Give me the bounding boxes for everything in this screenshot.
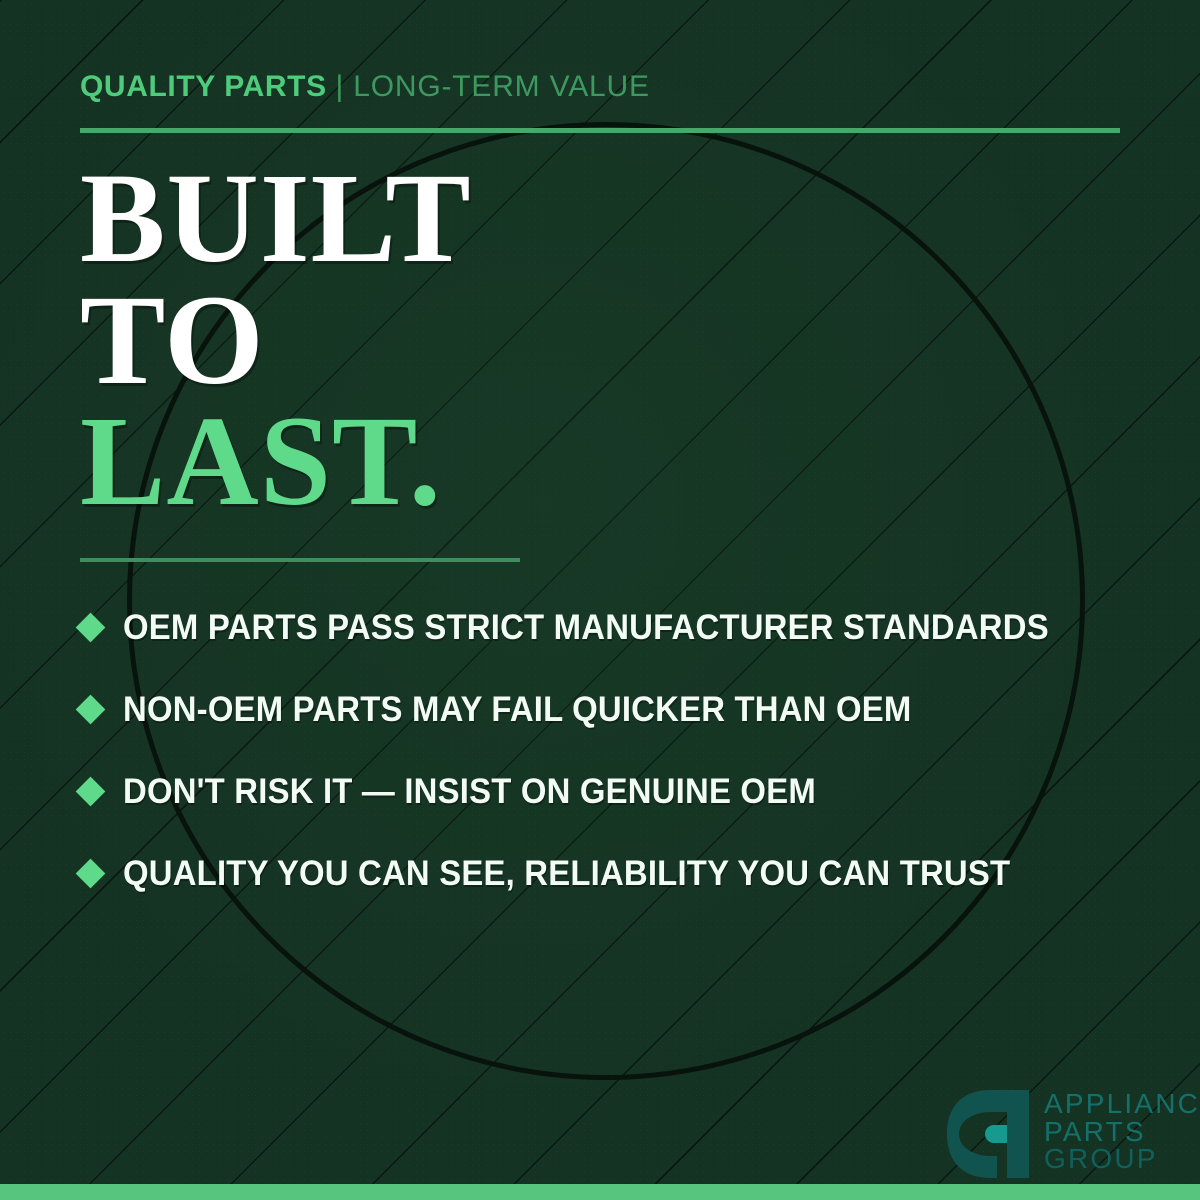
brand-logo: APPLIANCE PARTS GROUP bbox=[945, 1088, 1200, 1185]
g-monogram-icon bbox=[945, 1088, 1031, 1185]
list-item: DON'T RISK IT — INSIST ON GENUINE OEM bbox=[80, 750, 1140, 832]
list-item-label: DON'T RISK IT — INSIST ON GENUINE OEM bbox=[123, 774, 816, 809]
brand-logo-line-3: GROUP bbox=[1044, 1145, 1200, 1173]
list-item: OEM PARTS PASS STRICT MANUFACTURER STAND… bbox=[80, 586, 1140, 668]
diamond-bullet-icon bbox=[76, 694, 106, 724]
headline-divider-rule bbox=[80, 558, 520, 562]
list-item-label: QUALITY YOU CAN SEE, RELIABILITY YOU CAN… bbox=[123, 856, 1010, 891]
header-divider-rule bbox=[80, 128, 1120, 133]
poster-content: QUALITY PARTS | LONG-TERM VALUE BUILT TO… bbox=[0, 0, 1200, 1200]
headline-line-1: BUILT bbox=[80, 158, 472, 280]
kicker-strong-text: QUALITY PARTS bbox=[80, 70, 327, 103]
diamond-bullet-icon bbox=[76, 612, 106, 642]
headline-line-3: LAST. bbox=[80, 401, 472, 523]
poster-canvas: QUALITY PARTS | LONG-TERM VALUE BUILT TO… bbox=[0, 0, 1200, 1200]
list-item: NON-OEM PARTS MAY FAIL QUICKER THAN OEM bbox=[80, 668, 1140, 750]
list-item: QUALITY YOU CAN SEE, RELIABILITY YOU CAN… bbox=[80, 832, 1140, 914]
headline-line-2: TO bbox=[80, 280, 472, 402]
kicker-sub-text: | LONG-TERM VALUE bbox=[336, 70, 650, 103]
list-item-label: NON-OEM PARTS MAY FAIL QUICKER THAN OEM bbox=[123, 692, 911, 727]
diamond-bullet-icon bbox=[76, 776, 106, 806]
diamond-bullet-icon bbox=[76, 858, 106, 888]
benefits-list: OEM PARTS PASS STRICT MANUFACTURER STAND… bbox=[80, 586, 1140, 914]
page-title: BUILT TO LAST. bbox=[80, 158, 472, 523]
list-item-label: OEM PARTS PASS STRICT MANUFACTURER STAND… bbox=[123, 610, 1049, 645]
bottom-accent-bar bbox=[0, 1184, 1200, 1200]
brand-logo-text: APPLIANCE PARTS GROUP bbox=[1044, 1090, 1200, 1173]
brand-logo-line-1: APPLIANCE bbox=[1044, 1090, 1200, 1118]
brand-logo-line-2: PARTS bbox=[1044, 1118, 1200, 1146]
kicker: QUALITY PARTS | LONG-TERM VALUE bbox=[80, 72, 650, 102]
